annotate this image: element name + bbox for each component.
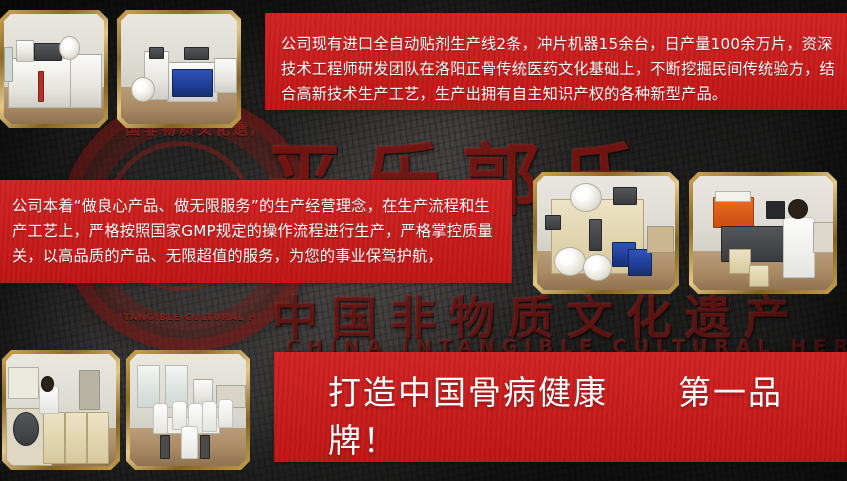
chair-2 [200, 435, 210, 459]
background-bench [214, 58, 237, 93]
clamp-mid [589, 219, 602, 251]
tape-roll-b [749, 265, 769, 288]
machine-head [34, 43, 62, 62]
photo-image-coating-machine [6, 354, 116, 466]
worker-coat [783, 217, 816, 278]
red-cable [38, 71, 44, 102]
photo-image-blue-machine [121, 14, 237, 124]
window-left [137, 365, 160, 407]
drive-wheel [13, 412, 39, 445]
photo-frame-packing-room[interactable] [126, 350, 250, 470]
worker-5 [218, 399, 233, 428]
worker-4 [202, 401, 217, 432]
panel-company-philosophy-text: 公司本着“做良心产品、做无限服务”的生产经营理念，在生产流程和生产工艺上，严格按… [12, 194, 500, 269]
slide-canvas: 中国非物质文化遗产 CHINA INTANGIBLE CULTURAL HERI… [0, 0, 847, 481]
machine-head [184, 47, 209, 60]
frame-post-a [43, 412, 65, 463]
frame-post-c [87, 412, 109, 463]
side-bench [813, 222, 833, 254]
worker-head [41, 376, 54, 391]
material-roll-second [583, 254, 613, 281]
panel-headline: 打造中国骨病健康 第一品牌！ [274, 352, 847, 462]
shelf-unit [8, 367, 39, 398]
photo-frame-worker-packaging[interactable] [689, 172, 837, 294]
storage-tank [79, 370, 101, 410]
worker-1 [153, 403, 168, 434]
photo-frame-blue-machine[interactable] [117, 10, 241, 128]
clamp-left [545, 215, 561, 231]
material-roll [59, 36, 80, 60]
side-column [4, 47, 13, 82]
machine-panel [16, 40, 34, 62]
material-roll-bottom [554, 247, 586, 276]
photo-image-roll-stock [537, 176, 675, 290]
photo-frame-production-line[interactable] [0, 10, 108, 128]
chair-1 [160, 435, 170, 459]
panel-company-capacity: 公司现有进口全自动贴剂生产线2条，冲片机器15余台，日产量100余万片，资深技术… [265, 13, 847, 110]
photo-image-packing-room [130, 354, 246, 466]
machine-cabinet [70, 54, 102, 109]
frame-post-b [65, 412, 87, 463]
panel-company-philosophy: 公司本着“做良心产品、做无限服务”的生产经营理念，在生产流程和生产工艺上，严格按… [0, 180, 512, 283]
photo-frame-roll-stock[interactable] [533, 172, 679, 294]
photo-image-worker-packaging [693, 176, 833, 290]
motor-top [613, 187, 637, 205]
worker-6 [181, 426, 198, 459]
photo-image-production-line [4, 14, 104, 124]
headline-text: 打造中国骨病健康 第一品牌！ [328, 369, 837, 465]
blue-cabinet-door [172, 69, 213, 97]
feeder-motor [149, 47, 164, 59]
pallet-box [647, 226, 674, 253]
monitor [766, 201, 785, 219]
panel-company-capacity-text: 公司现有进口全自动贴剂生产线2条，冲片机器15余台，日产量100余万片，资深技术… [281, 32, 837, 107]
photo-frame-coating-machine[interactable] [2, 350, 120, 470]
cabinet-top-panel [715, 191, 751, 202]
tape-roll-a [729, 249, 751, 274]
